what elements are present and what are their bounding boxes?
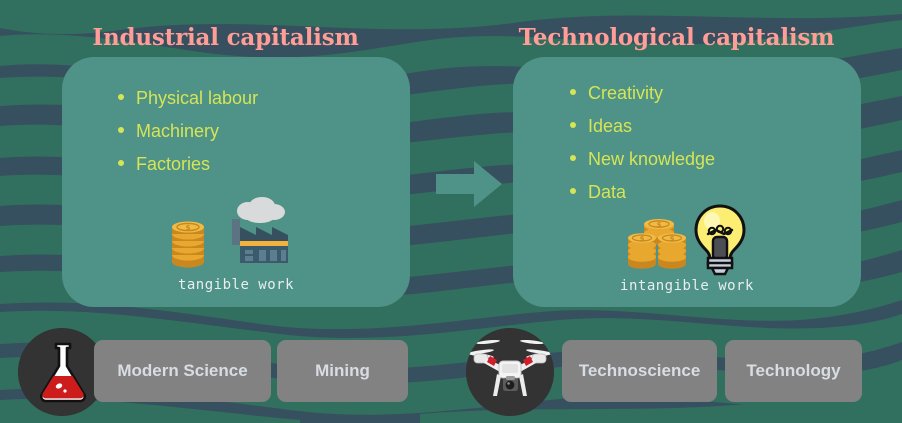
left-bullet-list: Physical labour Machinery Factories (62, 89, 410, 188)
pill-technoscience[interactable]: Technoscience (562, 340, 717, 402)
pill-mining[interactable]: Mining (277, 340, 408, 402)
list-item: Factories (62, 155, 410, 173)
right-bullet-list: Creativity Ideas New knowledge Data (513, 84, 861, 216)
list-item-label: Machinery (136, 122, 219, 140)
bullet-dot-icon (570, 89, 576, 95)
bullet-dot-icon (570, 188, 576, 194)
pill-label: Technoscience (579, 361, 701, 381)
right-emoji-row: $ $ (513, 202, 861, 276)
drone-badge[interactable] (466, 328, 554, 416)
svg-text:$: $ (670, 235, 675, 243)
bullet-dot-icon (118, 127, 124, 133)
slide-canvas: Industrial capitalism Physical labour Ma… (0, 0, 902, 423)
list-item: Machinery (62, 122, 410, 140)
pill-label: Mining (315, 361, 370, 381)
pill-technology[interactable]: Technology (725, 340, 862, 402)
list-item: Ideas (513, 117, 861, 135)
flask-badge-icon (18, 328, 106, 416)
bullet-dot-icon (570, 122, 576, 128)
lightbulb-emoji (692, 204, 748, 276)
list-item-label: Creativity (588, 84, 663, 102)
bullet-dot-icon (118, 160, 124, 166)
bullet-dot-icon (570, 155, 576, 161)
right-arrow-icon (436, 161, 502, 207)
right-panel: Creativity Ideas New knowledge Data (513, 57, 861, 307)
coin-stack-emoji: $ (168, 213, 208, 269)
list-item-label: New knowledge (588, 150, 715, 168)
left-emoji-row: $ (62, 197, 410, 271)
left-heading: Industrial capitalism (0, 24, 451, 51)
list-item-label: Physical labour (136, 89, 258, 107)
list-item-label: Data (588, 183, 626, 201)
list-item: Data (513, 183, 861, 201)
right-caption: intangible work (513, 278, 861, 294)
list-item-label: Ideas (588, 117, 632, 135)
pill-modern-science[interactable]: Modern Science (94, 340, 271, 402)
factory-emoji (212, 197, 304, 271)
pill-label: Modern Science (117, 361, 247, 381)
bullet-dot-icon (118, 94, 124, 100)
list-item-label: Factories (136, 155, 210, 173)
list-item: Physical labour (62, 89, 410, 107)
svg-text:$: $ (640, 235, 645, 243)
pill-label: Technology (746, 361, 840, 381)
left-caption: tangible work (62, 277, 410, 293)
list-item: Creativity (513, 84, 861, 102)
right-heading: Technological capitalism (451, 24, 902, 51)
svg-text:$: $ (657, 221, 662, 229)
left-panel: Physical labour Machinery Factories (62, 57, 410, 307)
svg-text:$: $ (186, 224, 191, 232)
drone-badge-icon (466, 328, 554, 416)
flask-badge[interactable] (18, 328, 106, 416)
list-item: New knowledge (513, 150, 861, 168)
money-coins-emoji: $ $ (626, 212, 690, 274)
